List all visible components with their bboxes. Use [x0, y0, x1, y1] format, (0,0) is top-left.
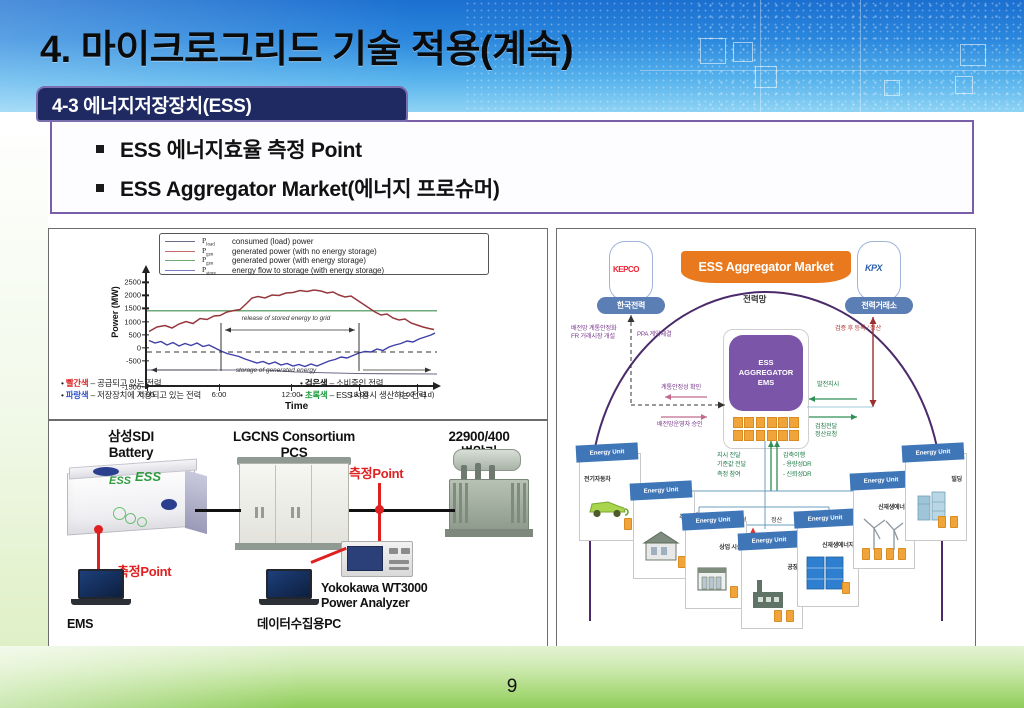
measure-point-label-left: 측정Point [117, 561, 171, 580]
data-pc-label: 데이터수집용PC [229, 617, 369, 632]
green-up-arrow-1-head-icon [768, 441, 774, 447]
left-note-top-line2: FR 거래시장 개설 [571, 333, 615, 340]
energy-unit-badge-label: Energy Unit [807, 514, 842, 523]
center-notes-right: 감축이행 - 용량성DR - 신뢰성DR [783, 451, 811, 479]
release-arrow-right-icon [349, 328, 355, 333]
measure-point-dot-left [94, 525, 103, 534]
bullet-item-1-label: ESS 에너지효율 측정 Point [120, 134, 362, 164]
left-panel: Pload consumed (load) power Pgen generat… [48, 228, 548, 668]
battery-icon [950, 516, 958, 528]
pcs-title: LGCNS Consortium PCS [219, 429, 369, 460]
korean-note-red: • 빨간색 – 공급되고 있는 전력 [61, 377, 300, 389]
kpx-arrow-down-icon [870, 400, 877, 407]
korean-note-row-2: • 파랑색 – 저장장치에 저장되고 있는 전력 • 초록색 – ESS 사용시… [61, 389, 539, 401]
left-arrow-bottom-note: 배전망운영자 승인 [657, 421, 702, 429]
header-square-1 [700, 38, 726, 64]
ems-in-arrow-icon [718, 402, 725, 409]
battery-icon [786, 610, 794, 622]
energy-unit-ev-label: 전기자동차 [584, 474, 611, 483]
bus-wire-right [349, 509, 455, 512]
green-arrow-top-head-icon [809, 396, 815, 402]
square-bullet-icon [96, 184, 104, 192]
ess-logo-text-2: ESS [135, 469, 161, 484]
right-panel: ESS Aggregator Market KEPCO 한국전력 KPX 전력거… [556, 228, 976, 668]
energy-unit-badge: Energy Unit [794, 508, 857, 528]
measure-point-wire-left [97, 529, 100, 569]
analyzer-label: Yokokawa WT3000 Power Analyzer [321, 581, 511, 611]
chart-korean-notes: • 빨간색 – 공급되고 있는 전력 • 검은색 – 소비중인 전력 • 파랑색… [61, 377, 539, 401]
left-arrow-bottom-head-icon [701, 414, 707, 420]
center-notes-left: 지시 전달 기준값 전달 측정 참여 [717, 451, 746, 479]
x-axis-label: Time [285, 401, 308, 412]
square-bullet-icon [96, 145, 104, 153]
battery-icon [730, 586, 738, 598]
energy-unit-solar: Energy Unit 신재생에너지 [797, 519, 859, 607]
header-square-4 [960, 44, 986, 66]
bottom-note-right: 정산 [771, 517, 782, 525]
annotation-release: release of stored energy to grid [231, 315, 341, 322]
ems-label: EMS [67, 617, 127, 632]
battery-title-line2: Battery [71, 445, 191, 461]
ess-logo-text-1: ESS [109, 475, 131, 487]
bullet-item-1: ESS 에너지효율 측정 Point [96, 134, 972, 164]
legend-label-0: consumed (load) power [232, 237, 313, 246]
energy-unit-badge-label: Energy Unit [915, 448, 950, 457]
energy-unit-badge: Energy Unit [682, 510, 745, 530]
pcs-title-line1: LGCNS Consortium [219, 429, 369, 445]
kepco-up-arrow-icon [628, 315, 635, 322]
series-storage-flow-line [149, 333, 435, 367]
building-icon [914, 490, 954, 524]
korean-note-blue: • 파랑색 – 저장장치에 저장되고 있는 전력 [61, 389, 300, 401]
transformer-title-line1: 22900/400 [419, 429, 539, 445]
analyzer-label-line1: Yokokawa WT3000 [321, 581, 511, 596]
y-axis-label: Power (MW) [110, 286, 120, 338]
storage-arrow-right-icon [425, 368, 431, 373]
battery-icon [886, 548, 894, 560]
center-note-left-2: 기준값 전달 [717, 461, 746, 468]
section-banner: 4-3 에너지저장장치(ESS) [36, 86, 408, 122]
chart-legend: Pload consumed (load) power Pgen generat… [159, 233, 489, 275]
battery-icon [898, 548, 906, 560]
korean-note-row-1: • 빨간색 – 공급되고 있는 전력 • 검은색 – 소비중인 전력 [61, 377, 539, 389]
left-note-top: 배전망 계통안정화 FR 거래시장 개설 [571, 325, 616, 342]
bus-wire-left [195, 509, 241, 512]
left-arrow-top-note: 계통안정성 확인 [661, 384, 701, 392]
electric-car-icon [586, 494, 630, 520]
green-arrow-bottom-head-icon [851, 414, 857, 420]
kpx-arrow-up-icon [870, 317, 877, 324]
storage-arrow-left-icon [151, 368, 157, 373]
energy-unit-building: Energy Unit 빌딩 [905, 453, 967, 541]
center-note-right-2: - 용량성DR [783, 461, 811, 468]
energy-unit-badge-label: Energy Unit [589, 448, 624, 457]
chart-plot-area: 2500 2000 1500 1000 500 0 -500 -1500 0:0… [145, 277, 445, 387]
house-icon [642, 528, 680, 562]
ess-circle-2 [125, 513, 136, 524]
energy-unit-badge-label: Energy Unit [643, 486, 678, 495]
battery-icon [862, 548, 870, 560]
measure-point-dot-right [375, 505, 384, 514]
energy-unit-badge: Energy Unit [630, 480, 693, 500]
right-arrow-bottom-line2: 정산요청 [815, 431, 837, 438]
slide-root: 4. 마이크로그리드 기술 적용(계속) 4-3 에너지저장장치(ESS) ES… [0, 0, 1024, 708]
legend-label-1: generated power (with no energy storage) [232, 247, 377, 256]
energy-unit-factory: Energy Unit 공장 [741, 541, 803, 629]
right-note-top: 검증 후 등록 / 정산 [835, 325, 881, 333]
store-icon [694, 560, 734, 594]
power-profile-chart: Pload consumed (load) power Pgen generat… [49, 229, 549, 419]
header-square-5 [955, 76, 973, 94]
legend-swatch-2 [165, 260, 195, 261]
annotation-storage: storage of generated energy [191, 367, 361, 374]
header-line-1 [760, 0, 761, 112]
battery-icon [874, 548, 882, 560]
page-number: 9 [0, 676, 1024, 698]
center-note-right-3: - 신뢰성DR [783, 471, 811, 478]
left-background-strip [0, 112, 48, 646]
battery-title: 삼성SDI Battery [71, 429, 191, 460]
header-square-6 [884, 80, 900, 96]
left-arrow-top-head-icon [665, 394, 671, 400]
energy-unit-badge-label: Energy Unit [695, 516, 730, 525]
factory-icon [749, 576, 791, 612]
solar-panel-icon [804, 554, 846, 594]
energy-unit-building-label: 빌딩 [951, 474, 962, 483]
energy-unit-badge: Energy Unit [850, 470, 913, 490]
energy-unit-badge-label: Energy Unit [751, 536, 786, 545]
ess-blue-oval-1 [93, 467, 119, 476]
korean-note-black: • 검은색 – 소비중인 전력 [300, 377, 539, 389]
legend-swatch-1 [165, 251, 195, 252]
left-note-top-line1: 배전망 계통안정화 [571, 325, 616, 332]
green-up-arrow-2-head-icon [774, 441, 780, 447]
battery-icon [842, 582, 850, 594]
analyzer-label-line2: Power Analyzer [321, 596, 511, 611]
aggregator-market-diagram: ESS Aggregator Market KEPCO 한국전력 KPX 전력거… [557, 229, 975, 667]
bullet-item-2-label: ESS Aggregator Market(에너지 프로슈머) [120, 173, 500, 203]
measure-point-label-right: 측정Point [349, 463, 403, 482]
battery-icon [938, 516, 946, 528]
header-line-3 [640, 70, 1024, 71]
header-line-2 [860, 0, 861, 112]
equipment-diagram: 삼성SDI Battery LGCNS Consortium PCS 22900… [49, 421, 549, 667]
section-banner-label: 4-3 에너지저장장치(ESS) [52, 91, 251, 118]
ess-blue-oval-2 [161, 499, 177, 510]
energy-unit-solar-label: 신재생에너지 [822, 540, 854, 549]
energy-unit-badge-label: Energy Unit [863, 476, 898, 485]
ess-circle-3 [137, 517, 147, 527]
energy-unit-badge: Energy Unit [738, 530, 801, 550]
battery-icon [774, 610, 782, 622]
right-arrow-bottom-note: 검침전달 정산요청 [815, 423, 837, 440]
legend-swatch-0 [165, 241, 195, 242]
center-note-left-3: 측정 참여 [717, 471, 741, 478]
header-square-2 [733, 42, 753, 62]
right-arrow-bottom-line1: 검침전달 [815, 423, 837, 430]
energy-unit-badge: Energy Unit [902, 442, 965, 462]
bullet-content-box: ESS 에너지효율 측정 Point ESS Aggregator Market… [50, 120, 974, 214]
release-arrow-left-icon [225, 328, 231, 333]
center-note-right-1: 감축이행 [783, 452, 805, 459]
legend-label-2: generated power (with energy storage) [232, 256, 366, 265]
bullet-item-2: ESS Aggregator Market(에너지 프로슈머) [96, 173, 972, 203]
battery-icon [624, 518, 632, 530]
korean-note-green: • 초록색 – ESS 사용시 생산하는 전력 [300, 389, 539, 401]
energy-unit-badge: Energy Unit [576, 442, 639, 462]
ppa-note: PPA 계약체결 [637, 331, 671, 339]
right-arrow-top-note: 발전지시 [817, 381, 839, 389]
center-note-left-1: 지시 전달 [717, 452, 741, 459]
battery-title-line1: 삼성SDI [71, 429, 191, 445]
page-title: 4. 마이크로그리드 기술 적용(계속) [40, 18, 573, 73]
